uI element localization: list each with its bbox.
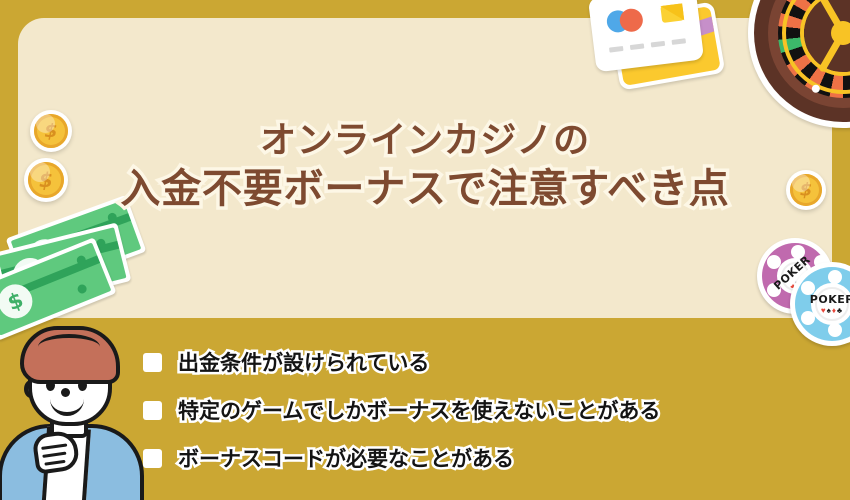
checkbox-icon[interactable] <box>143 401 162 420</box>
checklist-item[interactable]: 特定のゲームでしかボーナスを使えないことがある <box>143 386 660 434</box>
banner-stage: $ $ $ <box>0 0 850 500</box>
checkbox-icon[interactable] <box>143 449 162 468</box>
checkbox-icon[interactable] <box>143 353 162 372</box>
person-eye-right <box>78 380 87 391</box>
checklist-item-label: 特定のゲームでしかボーナスを使えないことがある <box>178 395 660 425</box>
gold-coin-icon <box>30 110 72 152</box>
credit-cards-icon <box>592 0 732 102</box>
poker-chip-suits: ♥♠♦♣ <box>821 307 843 315</box>
card-chip-icon <box>660 3 684 23</box>
thinking-person-illustration <box>0 328 148 500</box>
card-number-blocks <box>609 38 686 52</box>
gold-coin-icon <box>24 158 68 202</box>
checklist-item[interactable]: ボーナスコードが必要なことがある <box>143 434 660 482</box>
gold-coin-icon <box>786 170 826 210</box>
checklist-item[interactable]: 出金条件が設けられている <box>143 338 660 386</box>
person-hair-strand <box>38 334 100 360</box>
checklist-item-label: 出金条件が設けられている <box>178 347 429 377</box>
person-eye-left <box>46 380 55 391</box>
checklist: 出金条件が設けられている 特定のゲームでしかボーナスを使えないことがある ボーナ… <box>143 338 660 482</box>
dollar-bills-icon: $ $ $ <box>0 215 142 340</box>
poker-chip-label: POKER <box>810 293 850 306</box>
checklist-item-label: ボーナスコードが必要なことがある <box>178 443 514 473</box>
